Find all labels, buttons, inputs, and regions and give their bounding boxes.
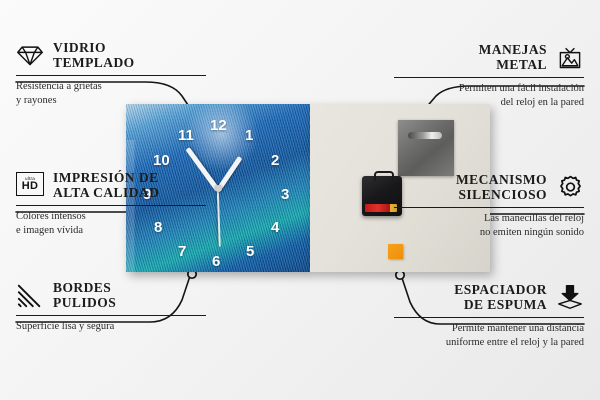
divider <box>394 317 584 319</box>
clock-hour-hand <box>216 156 243 192</box>
feature-description: Permite mantener una distancia uniforme … <box>394 322 584 349</box>
feature-description: Colores intensos e imagen vívida <box>16 210 206 237</box>
clock-numeral-7: 7 <box>178 244 186 259</box>
feature-description: Permiten una fácil instalación del reloj… <box>394 82 584 109</box>
clock-numeral-5: 5 <box>246 244 254 259</box>
feature-vidrio-templado: VIDRIOTEMPLADO Resistencia a grietas y r… <box>16 40 206 107</box>
polished-edges-icon <box>16 282 44 308</box>
feature-description: Las manecillas del reloj no emiten ningú… <box>394 212 584 239</box>
clock-numeral-12: 12 <box>210 118 227 133</box>
feature-mecanismo-silencioso: MECANISMOSILENCIOSO Las manecillas del r… <box>394 172 584 239</box>
foam-spacer-pad <box>388 244 403 259</box>
clock-numeral-3: 3 <box>281 187 289 202</box>
infographic-canvas: 12 1 2 3 4 5 6 7 8 9 10 11 <box>0 0 600 400</box>
clock-numeral-6: 6 <box>212 254 220 269</box>
gear-icon <box>556 174 584 200</box>
metal-hanger-plate <box>398 120 454 176</box>
clock-numeral-2: 2 <box>271 153 279 168</box>
clock-center-cap <box>215 185 222 192</box>
feature-title: MECANISMOSILENCIOSO <box>456 172 547 203</box>
feature-title: ESPACIADORDE ESPUMA <box>454 282 547 313</box>
divider <box>394 207 584 209</box>
battery <box>365 204 397 212</box>
divider <box>16 315 206 317</box>
feature-impresion-alta-calidad: ultra HD IMPRESIÓN DEALTA CALIDAD Colore… <box>16 170 206 237</box>
hanger-slot <box>408 132 442 139</box>
feature-manejas-metal: MANEJASMETAL Permiten una fácil instalac… <box>394 42 584 109</box>
feature-title: BORDESPULIDOS <box>53 280 116 311</box>
divider <box>16 75 206 77</box>
divider <box>394 77 584 79</box>
feature-description: Superficie lisa y segura <box>16 320 206 333</box>
clock-numeral-1: 1 <box>245 128 253 143</box>
divider <box>16 205 206 207</box>
feature-espaciador-espuma: ESPACIADORDE ESPUMA Permite mantener una… <box>394 282 584 349</box>
feature-title: VIDRIOTEMPLADO <box>53 40 135 71</box>
clock-second-hand <box>217 191 221 247</box>
feature-description: Resistencia a grietas y rayones <box>16 80 206 107</box>
picture-hanger-icon <box>556 44 584 70</box>
ultra-hd-icon: ultra HD <box>16 172 44 198</box>
feature-title: MANEJASMETAL <box>479 42 547 73</box>
clock-numeral-11: 11 <box>178 128 194 143</box>
clock-numeral-4: 4 <box>271 220 279 235</box>
feature-title: IMPRESIÓN DEALTA CALIDAD <box>53 170 159 201</box>
foam-spacer-icon <box>556 284 584 310</box>
movement-hanger-tab <box>374 171 394 181</box>
feature-bordes-pulidos: BORDESPULIDOS Superficie lisa y segura <box>16 280 206 334</box>
clock-numeral-10: 10 <box>153 153 170 168</box>
callout-dot-espaciador <box>396 271 404 279</box>
diamond-icon <box>16 42 44 68</box>
